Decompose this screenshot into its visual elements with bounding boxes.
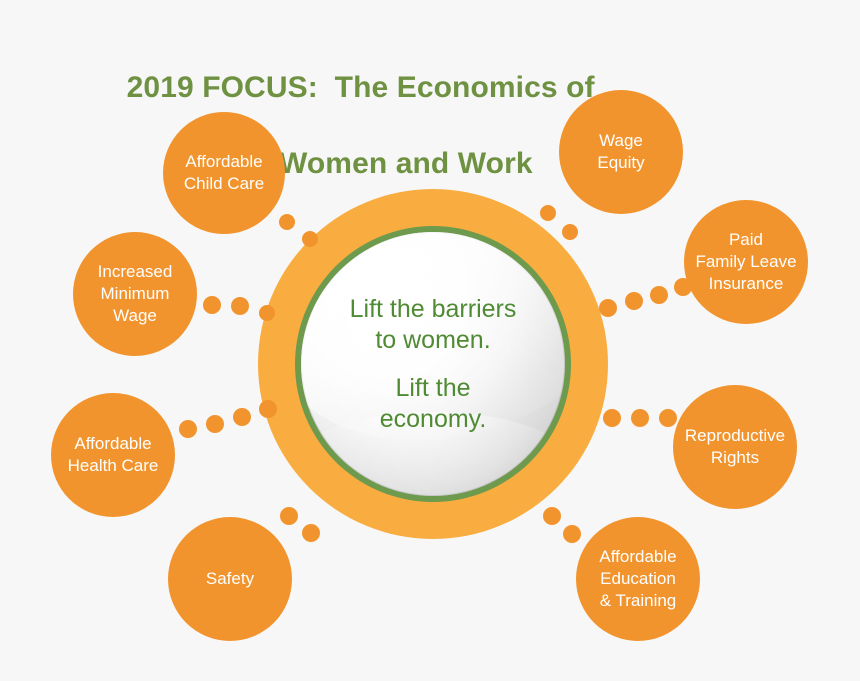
focus-node-label: Reproductive Rights — [681, 425, 789, 469]
infographic-canvas: 2019 FOCUS: The Economics of Women and W… — [0, 0, 860, 681]
hub-text-block: Lift the barriers to women. Lift the eco… — [258, 189, 608, 539]
focus-node-label: Paid Family Leave Insurance — [691, 229, 800, 295]
connector-dot — [659, 409, 677, 427]
hub-tagline-primary: Lift the barriers to women. — [350, 294, 517, 356]
title-line-2: Women and Work — [76, 145, 636, 183]
focus-node-label: Safety — [202, 568, 258, 590]
focus-node-paid-family-leave-insurance[interactable]: Paid Family Leave Insurance — [684, 200, 808, 324]
connector-dot — [206, 415, 224, 433]
focus-node-label: Affordable Education & Training — [595, 546, 680, 612]
focus-node-label: Affordable Health Care — [64, 433, 163, 477]
title-focus-label: 2019 FOCUS: — [127, 71, 318, 104]
connector-dot — [650, 286, 668, 304]
hub-tagline-secondary: Lift the economy. — [380, 373, 487, 435]
focus-node-reproductive-rights[interactable]: Reproductive Rights — [673, 385, 797, 509]
connector-dot — [231, 297, 249, 315]
connector-dot — [179, 420, 197, 438]
title-line-1: 2019 FOCUS: The Economics of — [76, 31, 636, 145]
focus-node-affordable-health-care[interactable]: Affordable Health Care — [51, 393, 175, 517]
focus-node-label: Wage Equity — [593, 130, 648, 174]
connector-dot — [625, 292, 643, 310]
focus-node-increased-minimum-wage[interactable]: Increased Minimum Wage — [73, 232, 197, 356]
connector-dot — [631, 409, 649, 427]
page-title: 2019 FOCUS: The Economics of Women and W… — [76, 31, 636, 183]
focus-node-label: Affordable Child Care — [180, 151, 268, 195]
central-hub: Lift the barriers to women. Lift the eco… — [258, 189, 608, 539]
connector-dot — [203, 296, 221, 314]
connector-dot — [233, 408, 251, 426]
focus-node-label: Increased Minimum Wage — [94, 261, 177, 327]
title-main-line-1: The Economics of — [335, 71, 595, 104]
